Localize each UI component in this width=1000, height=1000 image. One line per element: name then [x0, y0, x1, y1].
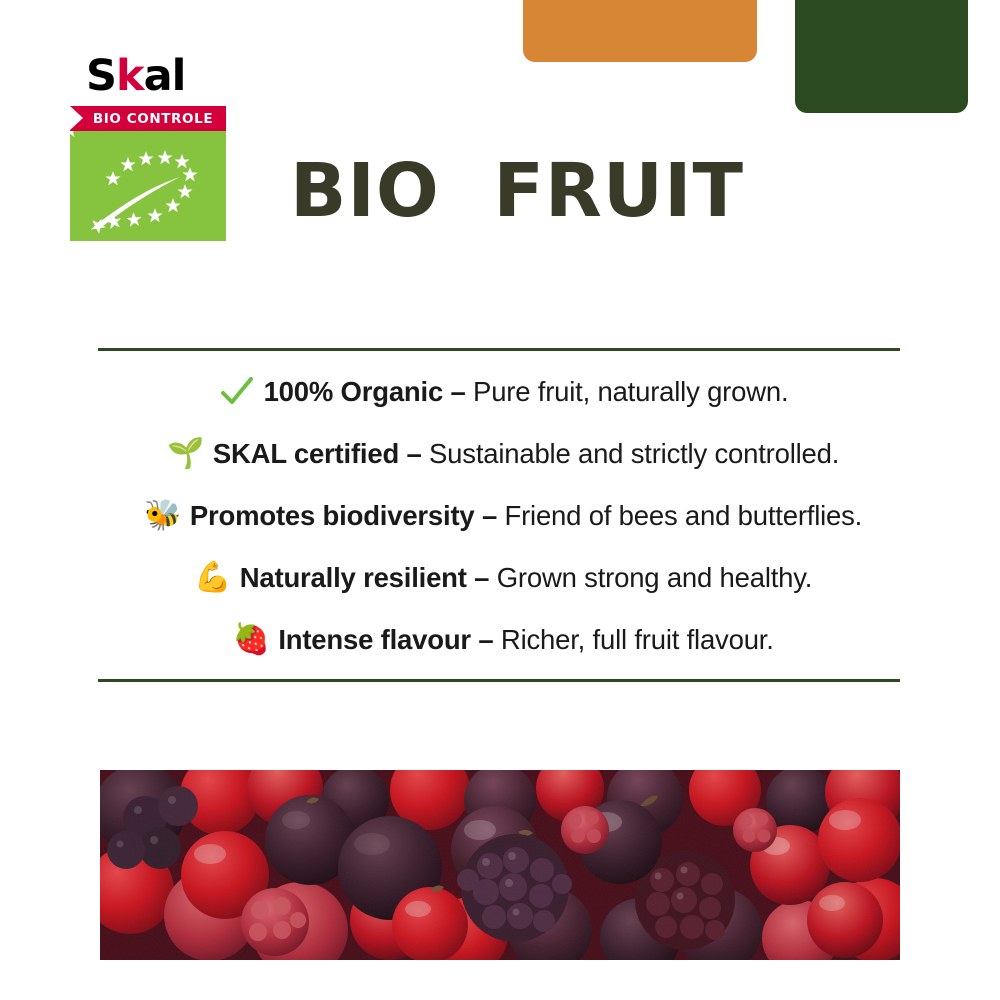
skal-wordmark-suffix: al: [144, 51, 186, 101]
list-item-dash: –: [443, 376, 473, 407]
list-item-text: Naturally resilient – Grown strong and h…: [240, 562, 812, 594]
feature-list: 100% Organic – Pure fruit, naturally gro…: [98, 362, 910, 670]
list-item: 🍓 Intense flavour – Richer, full fruit f…: [98, 610, 910, 670]
skal-wordmark-prefix: S: [86, 51, 116, 101]
list-item-text: Promotes biodiversity – Friend of bees a…: [190, 500, 862, 532]
list-item-text: Intense flavour – Richer, full fruit fla…: [278, 624, 773, 656]
list-item-title: Intense flavour: [278, 624, 471, 655]
list-item-title: SKAL certified: [213, 438, 399, 469]
list-item-dash: –: [475, 500, 505, 531]
list-item-text: 100% Organic – Pure fruit, naturally gro…: [264, 376, 789, 408]
page-title: BIO FRUIT: [290, 154, 744, 228]
green-check-icon: [220, 377, 254, 407]
eu-organic-leaf-icon: [70, 131, 226, 241]
list-item: 🐝 Promotes biodiversity – Friend of bees…: [98, 486, 910, 546]
list-item: 100% Organic – Pure fruit, naturally gro…: [98, 362, 910, 422]
list-item-title: 100% Organic: [264, 376, 444, 407]
list-item-dash: –: [467, 562, 497, 593]
list-item-description: Friend of bees and butterflies.: [505, 500, 863, 531]
list-item-title: Naturally resilient: [240, 562, 467, 593]
list-item-text: SKAL certified – Sustainable and strictl…: [213, 438, 839, 470]
list-item: 🌱 SKAL certified – Sustainable and stric…: [98, 424, 910, 484]
strawberry-icon: 🍓: [234, 625, 268, 655]
list-item-description: Grown strong and healthy.: [497, 562, 813, 593]
list-item-description: Richer, full fruit flavour.: [501, 624, 774, 655]
skal-wordmark: Skal: [86, 55, 226, 98]
skal-logo: Skal BIO CONTROLE: [70, 55, 226, 241]
honeybee-icon: 🐝: [146, 501, 180, 531]
bio-controle-label: BIO CONTROLE: [83, 111, 213, 127]
divider-top: [98, 348, 900, 351]
list-item-title: Promotes biodiversity: [190, 500, 475, 531]
bio-controle-banner: BIO CONTROLE: [70, 106, 226, 131]
list-item-description: Sustainable and strictly controlled.: [429, 438, 839, 469]
decor-block-orange: [523, 0, 757, 62]
skal-wordmark-accent: k: [116, 51, 144, 101]
list-item-dash: –: [399, 438, 429, 469]
flexed-biceps-icon: 💪: [196, 563, 230, 593]
list-item-dash: –: [471, 624, 501, 655]
divider-bottom: [98, 679, 900, 682]
list-item: 💪 Naturally resilient – Grown strong and…: [98, 548, 910, 608]
frozen-mixed-berries-photo: [100, 770, 900, 960]
seedling-icon: 🌱: [169, 439, 203, 469]
list-item-description: Pure fruit, naturally grown.: [473, 376, 788, 407]
decor-block-green: [795, 0, 968, 113]
